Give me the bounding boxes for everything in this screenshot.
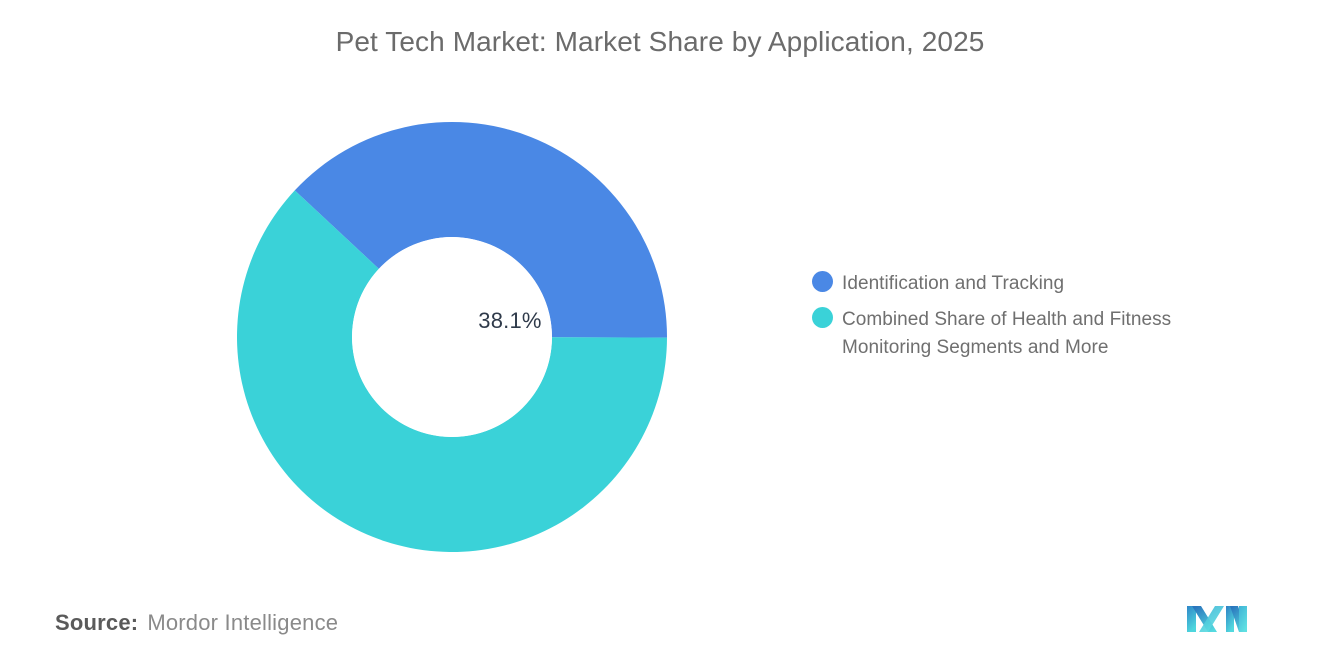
logo-svg [1185, 601, 1249, 637]
source-label: Source: [55, 610, 138, 636]
legend-item-combined-share[interactable]: Combined Share of Health and Fitness Mon… [812, 306, 1252, 362]
legend-item-label: Combined Share of Health and Fitness Mon… [842, 306, 1242, 362]
page-title: Pet Tech Market: Market Share by Applica… [0, 26, 1320, 58]
chart-page: Pet Tech Market: Market Share by Applica… [0, 0, 1320, 665]
donut-hole [352, 237, 552, 437]
chart-legend: Identification and Tracking Combined Sha… [812, 270, 1252, 370]
donut-chart-svg [237, 122, 667, 552]
legend-swatch-icon [812, 307, 833, 328]
mordor-intelligence-logo-icon [1185, 601, 1249, 637]
donut-chart: 38.1% [237, 122, 667, 552]
source-value: Mordor Intelligence [147, 610, 338, 636]
legend-item-identification-and-tracking[interactable]: Identification and Tracking [812, 270, 1252, 298]
legend-swatch-icon [812, 271, 833, 292]
legend-item-label: Identification and Tracking [842, 270, 1064, 298]
source-line: Source: Mordor Intelligence [55, 610, 338, 636]
